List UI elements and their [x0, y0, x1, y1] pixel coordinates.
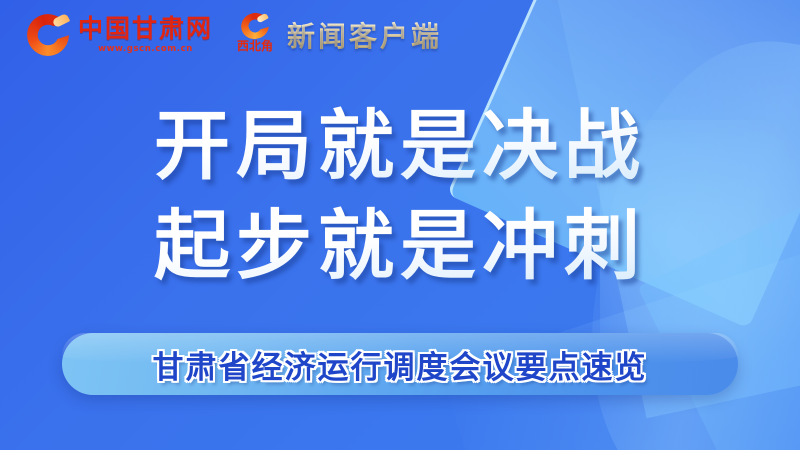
- site-logo-text: 中国甘肃网 www.gscn.com.cn: [78, 16, 213, 53]
- app-name-label: 新闻客户端: [287, 15, 442, 55]
- headline-line-1: 开局就是决战: [0, 96, 800, 196]
- xibeijiao-swirl-icon: 西北角: [233, 12, 277, 58]
- logo-bar: 中国甘肃网 www.gscn.com.cn 西北角 新闻客户端: [26, 12, 442, 58]
- site-url: www.gscn.com.cn: [98, 44, 193, 54]
- headline-block: 开局就是决战 起步就是冲刺: [0, 96, 800, 297]
- poster-canvas: 中国甘肃网 www.gscn.com.cn 西北角 新闻客户端 开局就是决战 起…: [0, 0, 800, 450]
- gansu-net-swirl-icon: [26, 12, 72, 58]
- xibeijiao-swirl-shape: [241, 13, 269, 39]
- headline-line-2: 起步就是冲刺: [0, 196, 800, 296]
- subtitle-banner: 甘肃省经济运行调度会议要点速览: [62, 333, 738, 395]
- xibeijiao-badge-label: 西北角: [237, 40, 273, 52]
- subtitle-label: 甘肃省经济运行调度会议要点速览: [153, 342, 648, 387]
- site-name: 中国甘肃网: [78, 16, 213, 42]
